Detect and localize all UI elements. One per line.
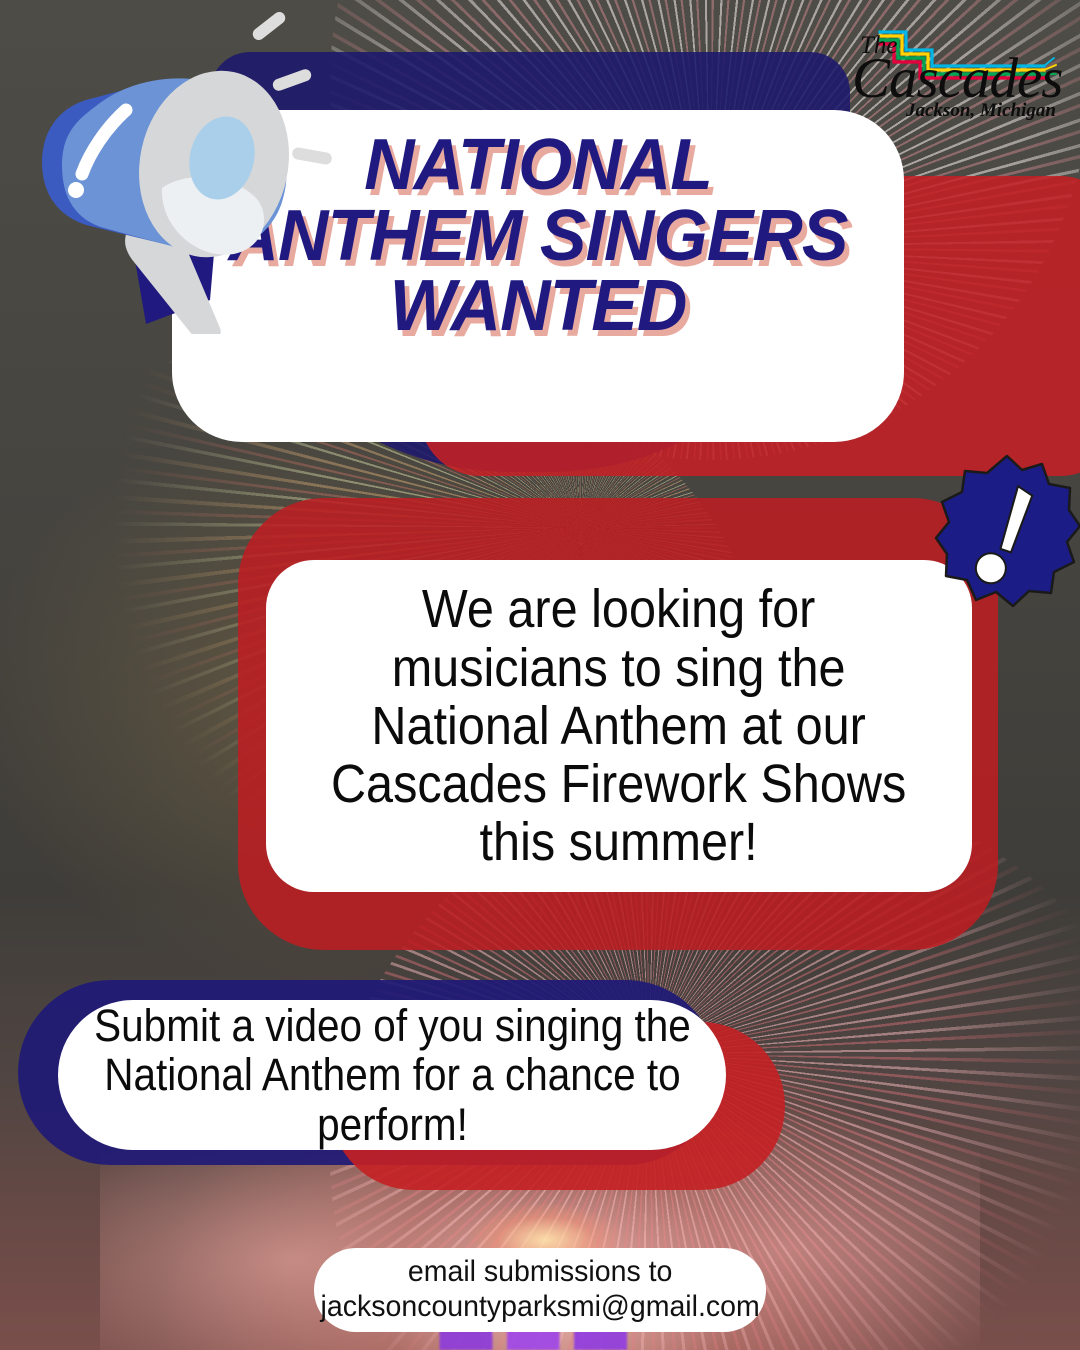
body-text: We are looking for musicians to sing the… [331, 580, 906, 872]
submit-instructions-card: Submit a video of you singing the Nation… [58, 1000, 726, 1150]
poster-canvas: NATIONAL ANTHEM SINGERS WANTED We are lo… [0, 0, 1080, 1350]
body-card: We are looking for musicians to sing the… [266, 560, 972, 892]
cascades-logo: The Cascades Jackson, Michigan [848, 16, 1062, 126]
email-card[interactable]: email submissions to jacksoncountyparksm… [314, 1248, 766, 1332]
submit-instructions-text: Submit a video of you singing the Nation… [94, 1001, 691, 1150]
email-submission-text: email submissions to jacksoncountyparksm… [320, 1255, 759, 1325]
logo-location-text: Jackson, Michigan [906, 100, 1056, 122]
megaphone-icon [34, 12, 334, 334]
exclamation-badge-icon [934, 452, 1080, 610]
